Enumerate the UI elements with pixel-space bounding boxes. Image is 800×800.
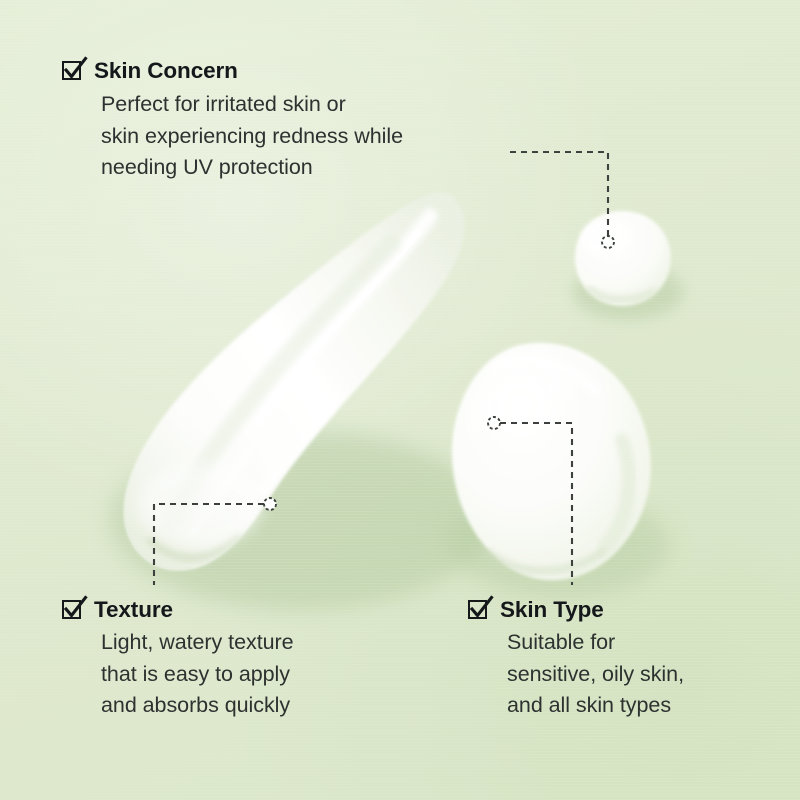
marker-skin-type: [488, 417, 500, 429]
feature-heading-row: Skin Concern: [62, 58, 403, 84]
feature-body: Light, watery texture that is easy to ap…: [101, 627, 294, 722]
feature-body-line: skin experiencing redness while: [101, 121, 403, 153]
feature-body-line: Light, watery texture: [101, 627, 294, 659]
checkbox-checked-icon: [62, 61, 83, 82]
feature-heading: Skin Concern: [94, 58, 238, 84]
feature-heading-row: Skin Type: [468, 597, 684, 623]
feature-heading: Texture: [94, 597, 173, 623]
feature-body-line: needing UV protection: [101, 152, 403, 184]
feature-body-line: Perfect for irritated skin or: [101, 89, 403, 121]
marker-skin-concern: [602, 236, 614, 248]
feature-body-line: and all skin types: [507, 690, 684, 722]
feature-body-line: sensitive, oily skin,: [507, 659, 684, 691]
checkbox-checked-icon: [468, 600, 489, 621]
infographic-canvas: Skin Concern Perfect for irritated skin …: [0, 0, 800, 800]
feature-body-line: Suitable for: [507, 627, 684, 659]
feature-heading-row: Texture: [62, 597, 294, 623]
feature-body: Suitable for sensitive, oily skin, and a…: [507, 627, 684, 722]
feature-block-texture: Texture Light, watery texture that is ea…: [62, 597, 294, 722]
checkbox-checked-icon: [62, 600, 83, 621]
marker-texture: [264, 498, 276, 510]
feature-body-line: that is easy to apply: [101, 659, 294, 691]
feature-body: Perfect for irritated skin or skin exper…: [101, 89, 403, 184]
feature-block-skin-concern: Skin Concern Perfect for irritated skin …: [62, 58, 403, 184]
feature-block-skin-type: Skin Type Suitable for sensitive, oily s…: [468, 597, 684, 722]
feature-body-line: and absorbs quickly: [101, 690, 294, 722]
small-round-droplet: [575, 211, 671, 306]
feature-heading: Skin Type: [500, 597, 604, 623]
